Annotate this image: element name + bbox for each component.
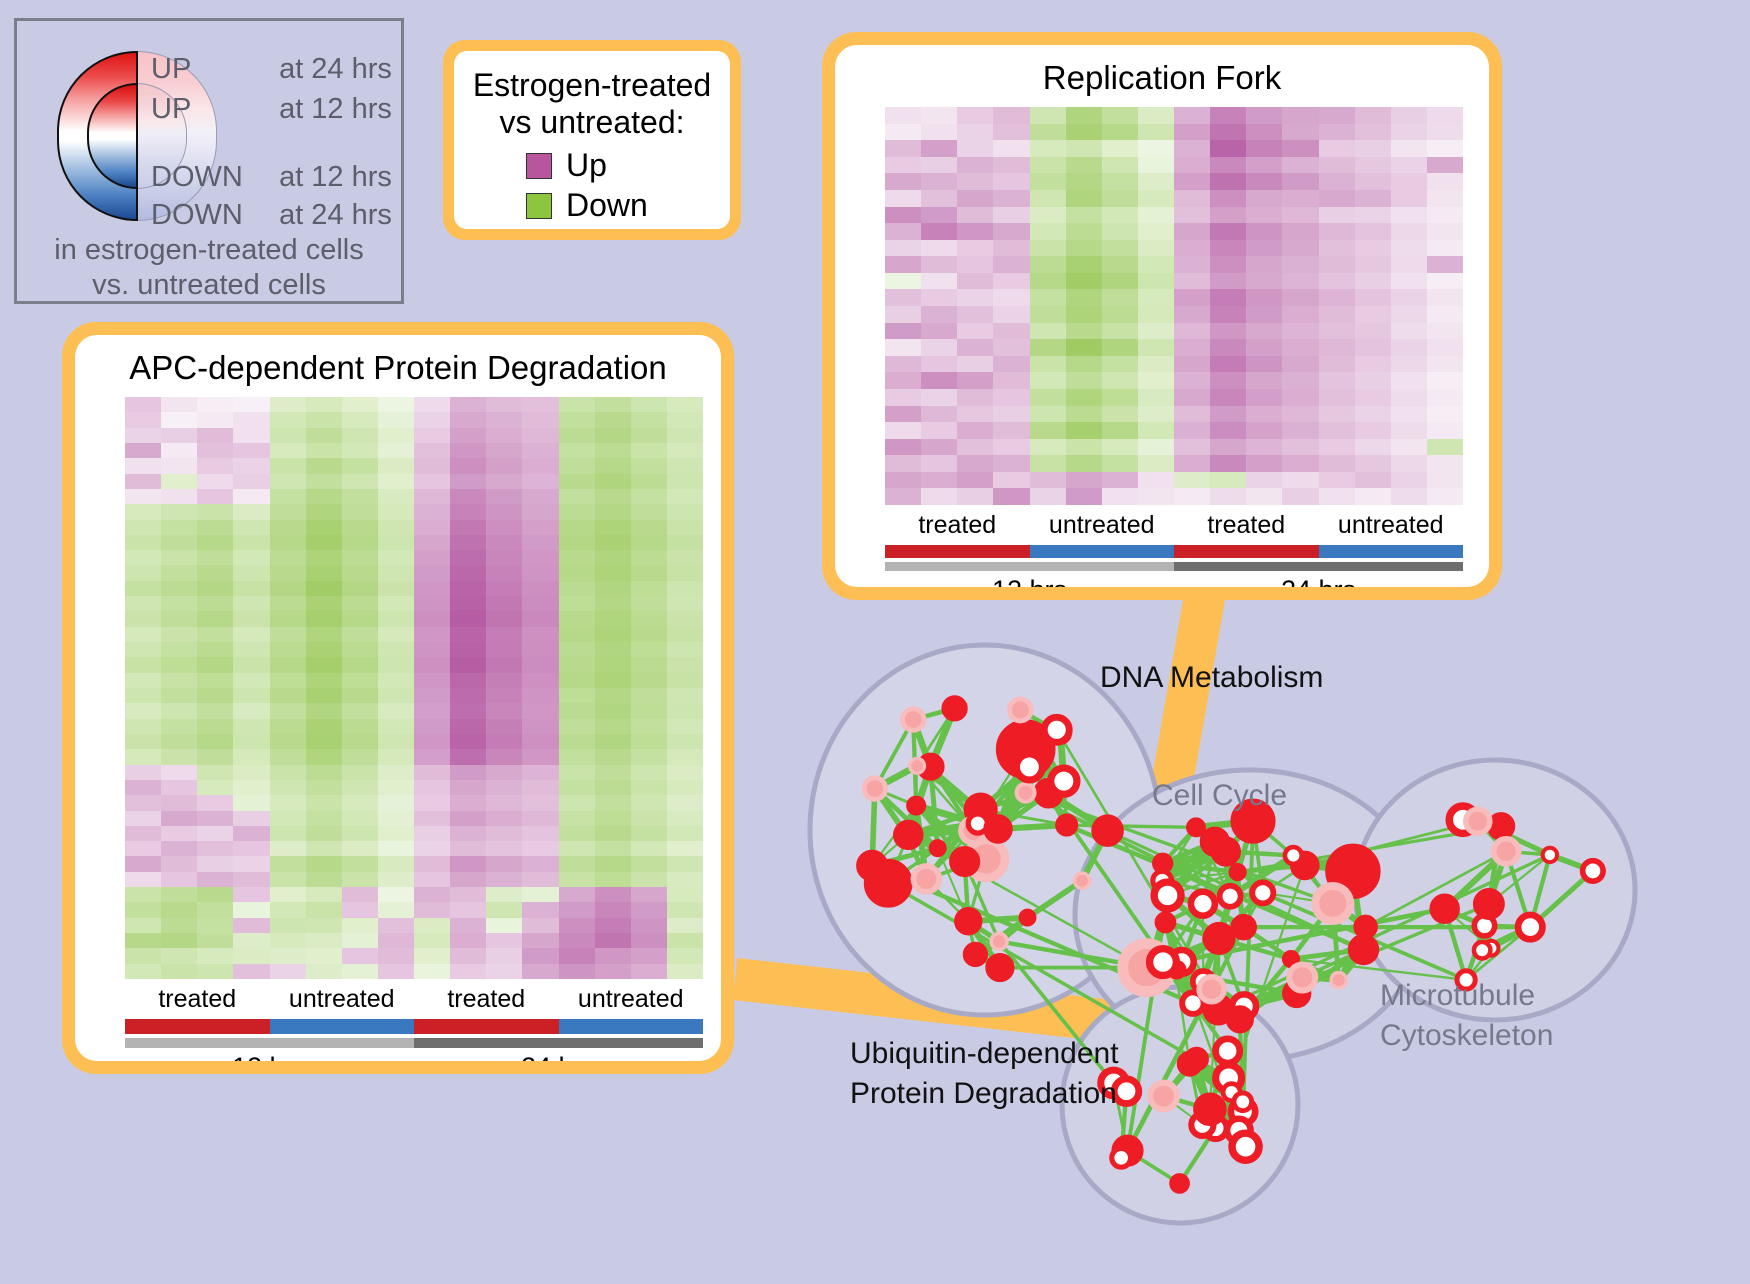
network-node-circle [1188,819,1204,835]
network-node[interactable] [1351,937,1377,963]
network-node-circle [1518,915,1542,939]
network-node-circle [1020,910,1035,925]
network-node-circle [965,944,986,965]
network-node-circle [1331,973,1346,988]
network-node[interactable] [1112,1148,1131,1167]
network-node[interactable] [1233,916,1255,938]
network-node[interactable] [1150,1083,1177,1110]
network-node[interactable] [1252,882,1273,903]
network-node-circle [1232,1133,1259,1160]
network-node-circle [910,758,925,773]
network-node-circle [1179,1053,1200,1074]
network-node[interactable] [952,849,977,874]
network-node[interactable] [1202,829,1227,854]
network-svg [780,600,1750,1279]
network-node[interactable] [1489,815,1512,838]
network-node-circle [1315,886,1350,921]
network-node[interactable] [1199,977,1224,1002]
network-node-circle [930,841,945,856]
network-node-circle [1476,891,1502,917]
network-node[interactable] [1196,1096,1223,1123]
network-node-circle [908,797,924,813]
network-node-circle [952,849,977,874]
network-node-circle [913,866,939,892]
network-node-circle [1252,882,1273,903]
network-node-circle [1432,896,1457,921]
network-node[interactable] [1230,865,1245,880]
network-node[interactable] [1171,1175,1188,1192]
network-node[interactable] [1234,1093,1252,1111]
network-node[interactable] [1331,973,1346,988]
network-node-circle [1150,949,1177,976]
network-node[interactable] [1476,891,1502,917]
network-node-circle [1228,1008,1251,1031]
network-node-circle [1494,839,1519,864]
network-node-circle [864,778,886,800]
network-node[interactable] [864,778,886,800]
network-node-circle [1009,699,1031,721]
network-node[interactable] [1285,847,1302,864]
network-node-circle [1094,817,1121,844]
network-node-circle [1016,754,1042,780]
cluster-label-dna-metabolism: DNA Metabolism [1100,660,1323,696]
network-node[interactable] [1016,754,1042,780]
network-node[interactable] [1179,1053,1200,1074]
network-node-circle [1230,865,1245,880]
network-node-circle [1220,886,1241,907]
network-node-circle [1474,942,1490,958]
network-node[interactable] [1094,817,1121,844]
network-node[interactable] [859,853,885,879]
network-node[interactable] [1188,819,1204,835]
network-node-circle [1171,1175,1188,1192]
cluster-label-microtubule-line1: Microtubule [1380,978,1535,1014]
network-node[interactable] [965,944,986,965]
cluster-label-ubiquitin-line2: Protein Degradation [850,1076,1117,1112]
network-node[interactable] [1289,965,1315,991]
network-node-circle [1057,816,1076,835]
network-node[interactable] [957,910,980,933]
network-node[interactable] [1583,861,1603,881]
network-node-circle [1017,784,1035,802]
pathway-network-graph: DNA Metabolism Cell Cycle Microtubule Cy… [780,600,1750,1279]
network-node[interactable] [1543,848,1557,862]
network-node[interactable] [913,866,939,892]
network-node[interactable] [1157,914,1175,932]
network-node[interactable] [986,817,1010,841]
network-node-circle [902,709,924,731]
network-node[interactable] [1150,949,1177,976]
network-node[interactable] [1315,886,1350,921]
network-node[interactable] [1228,1008,1251,1031]
network-node-circle [1356,917,1376,937]
network-node-circle [1074,873,1089,888]
network-node-circle [1051,768,1077,794]
network-node[interactable] [902,709,924,731]
network-node-circle [1196,1096,1223,1123]
network-node[interactable] [930,841,945,856]
network-node-circle [1112,1148,1131,1167]
network-node[interactable] [1017,784,1035,802]
network-node[interactable] [1474,942,1490,958]
network-node[interactable] [988,956,1012,980]
network-node[interactable] [1009,699,1031,721]
network-node-circle [1289,965,1315,991]
network-node[interactable] [1206,925,1233,952]
network-node[interactable] [1154,882,1181,909]
network-node-circle [986,817,1010,841]
network-node-circle [944,698,965,719]
cluster-label-ubiquitin-line1: Ubiquitin-dependent [850,1036,1119,1072]
network-node-circle [1351,937,1377,963]
network-node-circle [1216,1039,1240,1063]
network-node[interactable] [1356,917,1376,937]
network-node-circle [1150,1083,1177,1110]
figure-canvas: UP at 24 hrs UP at 12 hrs DOWN at 12 hrs… [0,0,1750,1279]
network-node-circle [896,824,919,847]
network-node[interactable] [1074,873,1089,888]
network-node[interactable] [1191,892,1215,916]
network-node-circle [859,853,885,879]
network-node-circle [988,956,1012,980]
network-node-circle [1583,861,1603,881]
network-node-circle [1489,815,1512,838]
network-edge [1067,825,1196,827]
network-node[interactable] [1020,910,1035,925]
network-node-circle [1543,848,1557,862]
network-node[interactable] [944,698,965,719]
network-node-circle [1199,977,1224,1002]
network-node[interactable] [1044,717,1069,742]
network-node[interactable] [910,758,925,773]
network-node-circle [1157,914,1175,932]
network-node-circle [1206,925,1233,952]
network-node-circle [1466,809,1490,833]
network-node[interactable] [1432,896,1457,921]
network-node[interactable] [1051,768,1077,794]
network-node[interactable] [1232,1133,1259,1160]
cluster-label-microtubule-line2: Cytoskeleton [1380,1018,1553,1054]
network-node[interactable] [1114,1079,1139,1104]
network-node[interactable] [1494,839,1519,864]
network-node-circle [1233,916,1255,938]
network-node-circle [991,933,1007,949]
network-node-circle [1154,882,1181,909]
network-node-circle [957,910,980,933]
network-node[interactable] [908,797,924,813]
network-node[interactable] [1518,915,1542,939]
network-node[interactable] [991,933,1007,949]
network-node[interactable] [896,824,919,847]
network-node-circle [1285,847,1302,864]
cluster-label-cell-cycle: Cell Cycle [1152,778,1287,814]
network-node[interactable] [1466,809,1490,833]
network-node-circle [1114,1079,1139,1104]
network-node-circle [1202,829,1227,854]
network-node[interactable] [1057,816,1076,835]
network-node-circle [1191,892,1215,916]
network-node-circle [1234,1093,1252,1111]
network-node[interactable] [1216,1039,1240,1063]
network-node-circle [1044,717,1069,742]
network-node[interactable] [1220,886,1241,907]
